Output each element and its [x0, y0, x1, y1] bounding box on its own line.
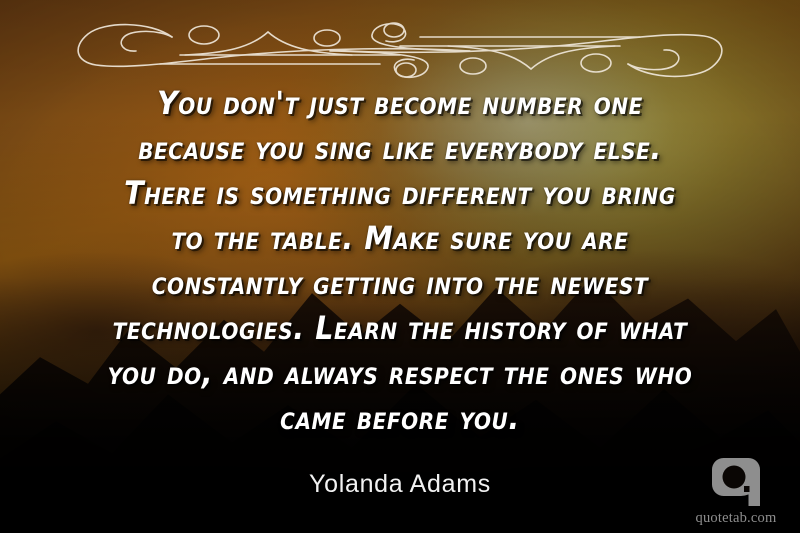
watermark[interactable]: quotetab.com — [684, 456, 788, 526]
flourish-icon — [0, 8, 800, 80]
decorative-flourish-ornament — [0, 8, 800, 80]
quote-line: you do, and always respect the ones who — [30, 348, 770, 398]
quotetab-logo[interactable] — [710, 456, 762, 508]
quote-line: came before you. — [30, 393, 770, 443]
quote-text-block: You don't just become number one because… — [0, 78, 800, 438]
quote-author: Yolanda Adams — [0, 470, 800, 499]
quote-line: because you sing like everybody else. — [30, 123, 770, 173]
quote-line: technologies. Learn the history of what — [30, 303, 770, 353]
quote-image-card: You don't just become number one because… — [0, 0, 800, 533]
watermark-site-label: quotetab.com — [684, 511, 788, 526]
quote-line: to the table. Make sure you are — [30, 213, 770, 263]
quote-line: You don't just become number one — [30, 78, 770, 128]
quotetab-q-icon — [710, 456, 762, 508]
quote-line: constantly getting into the newest — [30, 258, 770, 308]
quote-line: There is something different you bring — [30, 168, 770, 218]
